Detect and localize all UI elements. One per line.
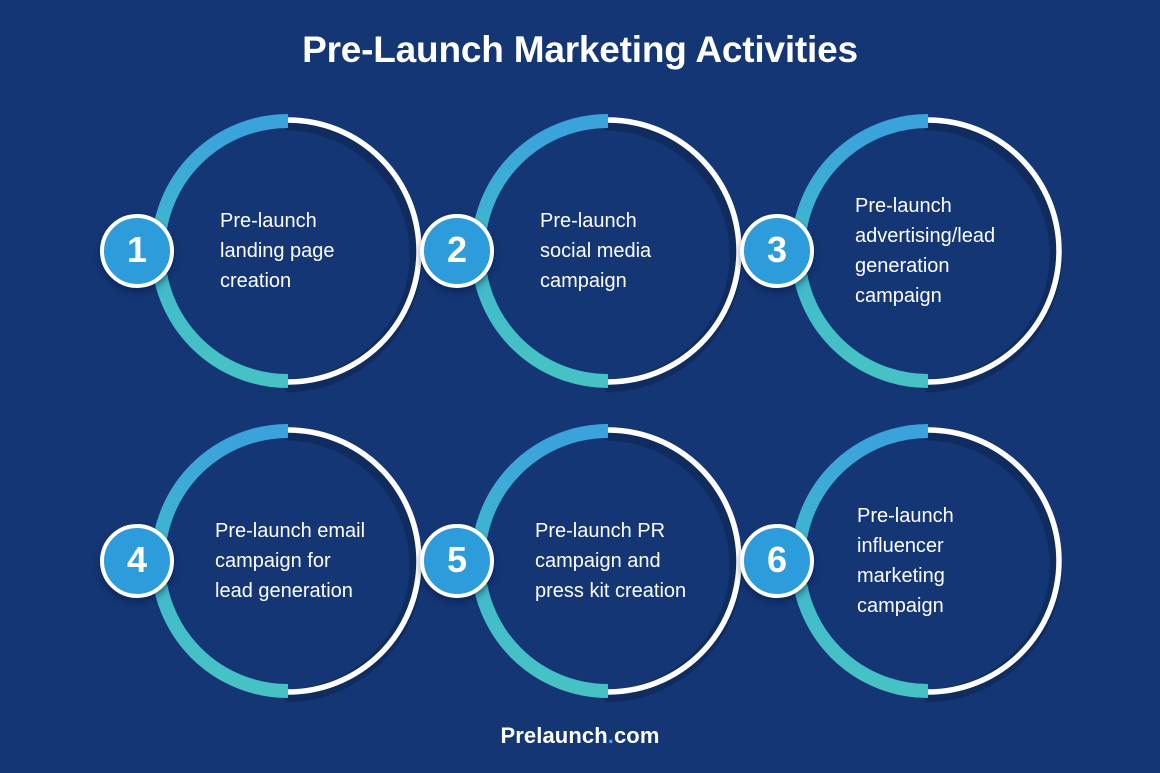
step-label-line: influencer [857,531,1072,561]
step-label-6: Pre-launch influencer marketing campaign [857,425,1072,697]
step-card-2[interactable]: 2 Pre-launch social media campaign [457,115,759,387]
step-number-badge-3: 3 [740,214,814,288]
step-number-badge-2: 2 [420,214,494,288]
step-number-badge-6: 6 [740,524,814,598]
step-card-5[interactable]: 5 Pre-launch PR campaign and press kit c… [457,425,759,697]
step-card-6[interactable]: 6 Pre-launch influencer marketing campai… [777,425,1079,697]
step-label-line: social media [540,236,745,266]
step-label-2: Pre-launch social media campaign [540,115,745,387]
step-number-badge-1: 1 [100,214,174,288]
step-label-line: Pre-launch [857,501,1072,531]
step-label-line: campaign [540,266,745,296]
step-card-3[interactable]: 3 Pre-launch advertising/lead generation… [777,115,1079,387]
step-card-4[interactable]: 4 Pre-launch email campaign for lead gen… [137,425,439,697]
step-label-4: Pre-launch email campaign for lead gener… [215,425,433,697]
step-label-line: marketing [857,561,1072,591]
step-label-line: campaign and [535,546,753,576]
page-title: Pre-Launch Marketing Activities [0,29,1160,71]
step-label-line: campaign [855,281,1073,311]
steps-row-2: 4 Pre-launch email campaign for lead gen… [0,417,1160,727]
step-label-line: campaign [857,591,1072,621]
step-label-line: campaign for [215,546,433,576]
step-label-line: Pre-launch [220,206,425,236]
step-label-line: creation [220,266,425,296]
step-label-line: Pre-launch [855,191,1073,221]
step-label-line: Pre-launch PR [535,516,753,546]
step-label-line: press kit creation [535,576,753,606]
step-number-4: 4 [127,542,147,578]
step-number-6: 6 [767,542,787,578]
step-label-line: generation [855,251,1073,281]
steps-row-1: 1 Pre-launch landing page creation [0,107,1160,417]
steps-grid: 1 Pre-launch landing page creation [0,107,1160,727]
step-label-5: Pre-launch PR campaign and press kit cre… [535,425,753,697]
step-label-line: landing page [220,236,425,266]
step-number-badge-5: 5 [420,524,494,598]
step-number-2: 2 [447,232,467,268]
step-number-badge-4: 4 [100,524,174,598]
step-label-3: Pre-launch advertising/lead generation c… [855,115,1073,387]
step-number-5: 5 [447,542,467,578]
step-label-line: Pre-launch [540,206,745,236]
brand-tld: com [614,723,660,748]
step-card-1[interactable]: 1 Pre-launch landing page creation [137,115,439,387]
brand-name: Prelaunch [500,723,607,748]
step-label-line: lead generation [215,576,433,606]
step-number-1: 1 [127,232,147,268]
step-number-3: 3 [767,232,787,268]
step-label-line: Pre-launch email [215,516,433,546]
brand-logo[interactable]: Prelaunch.com [0,723,1160,749]
step-label-1: Pre-launch landing page creation [220,115,425,387]
step-label-line: advertising/lead [855,221,1073,251]
